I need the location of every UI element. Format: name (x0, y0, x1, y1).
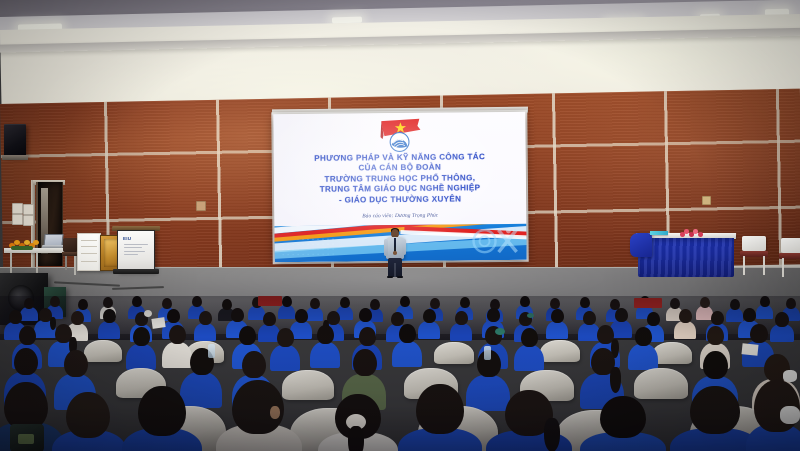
table-leg (10, 253, 12, 275)
laptop-keyboard-base (42, 245, 64, 248)
ponytail (544, 418, 560, 451)
audience-head (635, 327, 652, 346)
audience-head (743, 308, 756, 322)
audience-shirt (98, 321, 120, 339)
abstract-circle-x-graphic (468, 226, 522, 257)
audience-head (700, 297, 710, 308)
audience-member (674, 309, 696, 338)
face-mask (780, 406, 800, 424)
audience-head (487, 308, 500, 322)
audience-head (600, 396, 646, 438)
audience-head (64, 350, 88, 377)
audience-member (126, 327, 156, 367)
audience-shirt (546, 321, 568, 339)
audience-head (327, 311, 340, 325)
white-framed-certificate (77, 233, 101, 271)
speaker-bracket-shelf (2, 155, 28, 160)
audience-head (295, 309, 308, 323)
presenter-arm (402, 239, 406, 255)
certificate-text-line (81, 246, 97, 247)
audience-member (486, 390, 572, 451)
wall-outlet (23, 215, 34, 226)
presenter-arm (384, 239, 388, 256)
audience-member (122, 386, 202, 451)
blue-draped-table (636, 233, 736, 277)
hair-clip (527, 313, 534, 318)
certificate-text-line (81, 253, 97, 254)
certificate-text-line (81, 240, 97, 241)
chair-leg (782, 258, 784, 277)
audience-head (615, 308, 628, 322)
audience-head (583, 311, 596, 325)
chair-back (781, 238, 800, 253)
audience-head (167, 309, 180, 323)
folded-cloth-bundle (630, 233, 652, 257)
audience-head (711, 311, 724, 325)
audience-head (71, 311, 84, 325)
hair-clip (495, 328, 505, 335)
wall-outlet (12, 214, 23, 225)
chair-back (742, 236, 766, 251)
chair-leg (763, 256, 765, 275)
chair[interactable] (740, 236, 768, 276)
chair[interactable] (779, 238, 800, 278)
red-object-on-floor (634, 298, 662, 308)
audience-shirt (270, 345, 300, 371)
table-leg (36, 253, 38, 275)
water-bottle (484, 346, 491, 360)
table-blue-skirt (638, 238, 734, 277)
audience-member (450, 311, 472, 340)
auditorium-seat (652, 342, 692, 364)
auditorium-seat (540, 340, 580, 362)
chair-leg (65, 256, 67, 270)
audience-head (310, 298, 320, 309)
audience-head (132, 296, 142, 307)
audience-shirt (514, 345, 544, 371)
audience-member (546, 309, 568, 338)
presenter-shoe (397, 276, 403, 278)
audience-head (580, 297, 590, 308)
audience-head (317, 325, 334, 344)
wall-outlet (23, 204, 34, 215)
audience-head (690, 386, 740, 434)
audience-head (760, 296, 770, 307)
audience-shirt (392, 341, 422, 367)
audience-head (277, 328, 294, 347)
audience-member (398, 384, 482, 451)
audience-shirt (628, 344, 658, 370)
audience-head (353, 349, 377, 376)
audience-head (103, 297, 113, 308)
flower-foliage (11, 246, 33, 250)
slide-title: PHƯƠNG PHÁP VÀ KỸ NĂNG CÔNG TÁC CỦA CÁN … (274, 152, 526, 206)
audience-shirt (310, 342, 340, 368)
audience-head (670, 298, 680, 309)
audience-shirt (126, 344, 156, 370)
ponytail (610, 367, 621, 393)
audience-head (521, 328, 538, 347)
audience-head (282, 296, 292, 307)
audience-head (242, 351, 266, 378)
presenter-leg-gap (394, 263, 395, 277)
lectern: EIU (115, 226, 157, 274)
wall-outlet (702, 196, 711, 205)
audience-shirt (674, 321, 696, 339)
audience-member (216, 380, 302, 451)
speaker-on-stage (382, 229, 408, 277)
audience-member (52, 392, 126, 451)
audience-head (340, 297, 350, 308)
audience-member (580, 396, 666, 451)
lectern-logo: EIU (123, 236, 131, 241)
ponytail (348, 426, 364, 451)
audience-head (192, 296, 202, 307)
slide-title-line: - GIÁO DỤC THƯỜNG XUYÊN (280, 193, 520, 206)
audience-member (746, 380, 800, 451)
audience-head (66, 392, 110, 438)
flower-arrangement (8, 238, 38, 250)
audience-seating-area (0, 296, 800, 451)
audience-member (514, 328, 544, 368)
laptop[interactable] (42, 234, 62, 249)
audience-shirt (450, 323, 472, 341)
red-object-on-floor (258, 296, 282, 306)
audience-head (103, 309, 116, 323)
presenter-shoe (387, 276, 393, 278)
audience-member (310, 325, 340, 366)
audience-head (169, 325, 186, 344)
audience-head (24, 298, 34, 309)
audience-member (318, 394, 398, 451)
audience-head (199, 311, 212, 325)
audience-head (263, 312, 276, 326)
audience-member (270, 328, 300, 368)
audience-head (679, 309, 692, 323)
ear (270, 406, 280, 419)
audience-head (9, 310, 22, 324)
audience-head (162, 298, 172, 309)
audience-head (399, 324, 416, 343)
lectern-front-panel: EIU (117, 230, 155, 272)
paper-sheet (741, 343, 758, 356)
audience-member (98, 309, 120, 338)
flower (698, 232, 703, 237)
lectern-base (113, 269, 159, 274)
audience-head (14, 348, 38, 375)
audience-head (750, 324, 768, 343)
audience-head (707, 326, 724, 345)
audience-member (628, 327, 658, 367)
audience-shirt (194, 323, 216, 341)
flower (33, 240, 39, 245)
lectern-panel-text (124, 244, 148, 257)
audience-member (194, 311, 216, 340)
bag-logo (18, 434, 34, 444)
audience-head (78, 299, 88, 310)
wall-outlet (196, 201, 206, 211)
name-card (650, 231, 668, 235)
audience-head (703, 351, 728, 379)
audience-head (400, 296, 410, 307)
audience-head (550, 298, 560, 309)
audience-head (647, 312, 660, 326)
flower-arrangement (680, 228, 704, 237)
paper-sheet (151, 317, 165, 329)
auditorium-photo: PHƯƠNG PHÁP VÀ KỸ NĂNG CÔNG TÁC CỦA CÁN … (0, 0, 800, 451)
chair-back (63, 238, 78, 252)
audience-head (520, 296, 530, 307)
audience-head (455, 311, 468, 325)
audience-head (231, 308, 244, 322)
water-bottle (208, 344, 215, 358)
audience-head (50, 296, 60, 307)
audience-head (551, 309, 564, 323)
certificate-text-line (81, 261, 97, 262)
audience-head (460, 297, 470, 308)
audience-head (359, 308, 372, 322)
audience-head (430, 298, 440, 309)
audience-head (416, 384, 464, 434)
audience-head (133, 327, 150, 346)
presenter-hand (393, 251, 397, 255)
audience-head (138, 386, 186, 436)
audience-head (4, 382, 48, 430)
audience-head (239, 326, 256, 345)
ho-chi-minh-communist-youth-union-emblem (374, 117, 424, 153)
audience-head (423, 309, 436, 323)
hair-bun (144, 310, 152, 317)
audience-member (392, 324, 422, 365)
audience-head (775, 312, 789, 327)
slide-presenter-credit: Báo cáo viên: Dương Trọng Phúc (274, 212, 526, 220)
wall-outlet (12, 203, 23, 214)
audience-head (359, 327, 376, 346)
wall-mounted-speaker (4, 124, 26, 157)
chair-leg (743, 256, 745, 275)
audience-head (19, 326, 36, 345)
audience-head (786, 298, 796, 309)
